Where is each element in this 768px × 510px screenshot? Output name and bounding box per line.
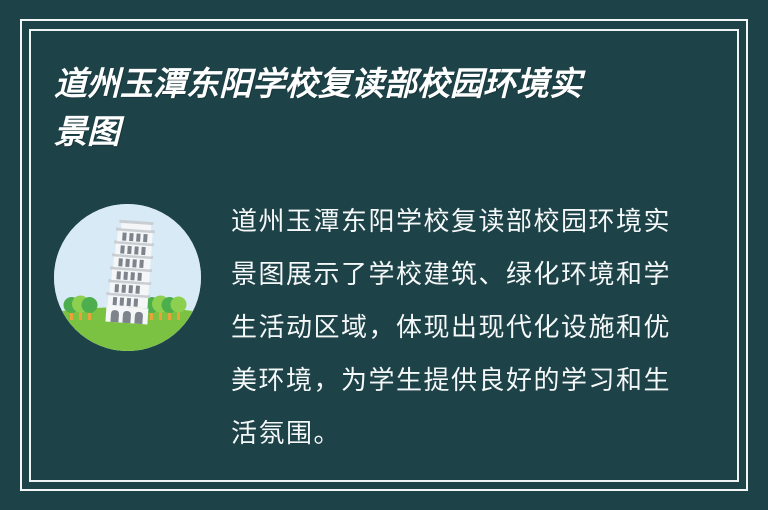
- description-text: 道州玉潭东阳学校复读部校园环境实景图展示了学校建筑、绿化环境和学生活动区域，体现…: [231, 196, 694, 461]
- illustration-svg: [54, 204, 201, 351]
- content-row: 道州玉潭东阳学校复读部校园环境实景图展示了学校建筑、绿化环境和学生活动区域，体现…: [54, 196, 694, 461]
- poster-card: 道州玉潭东阳学校复读部校园环境实景图: [0, 0, 768, 510]
- leaning-tower-of-pisa-illustration: [54, 204, 201, 351]
- page-title: 道州玉潭东阳学校复读部校园环境实景图: [54, 60, 614, 156]
